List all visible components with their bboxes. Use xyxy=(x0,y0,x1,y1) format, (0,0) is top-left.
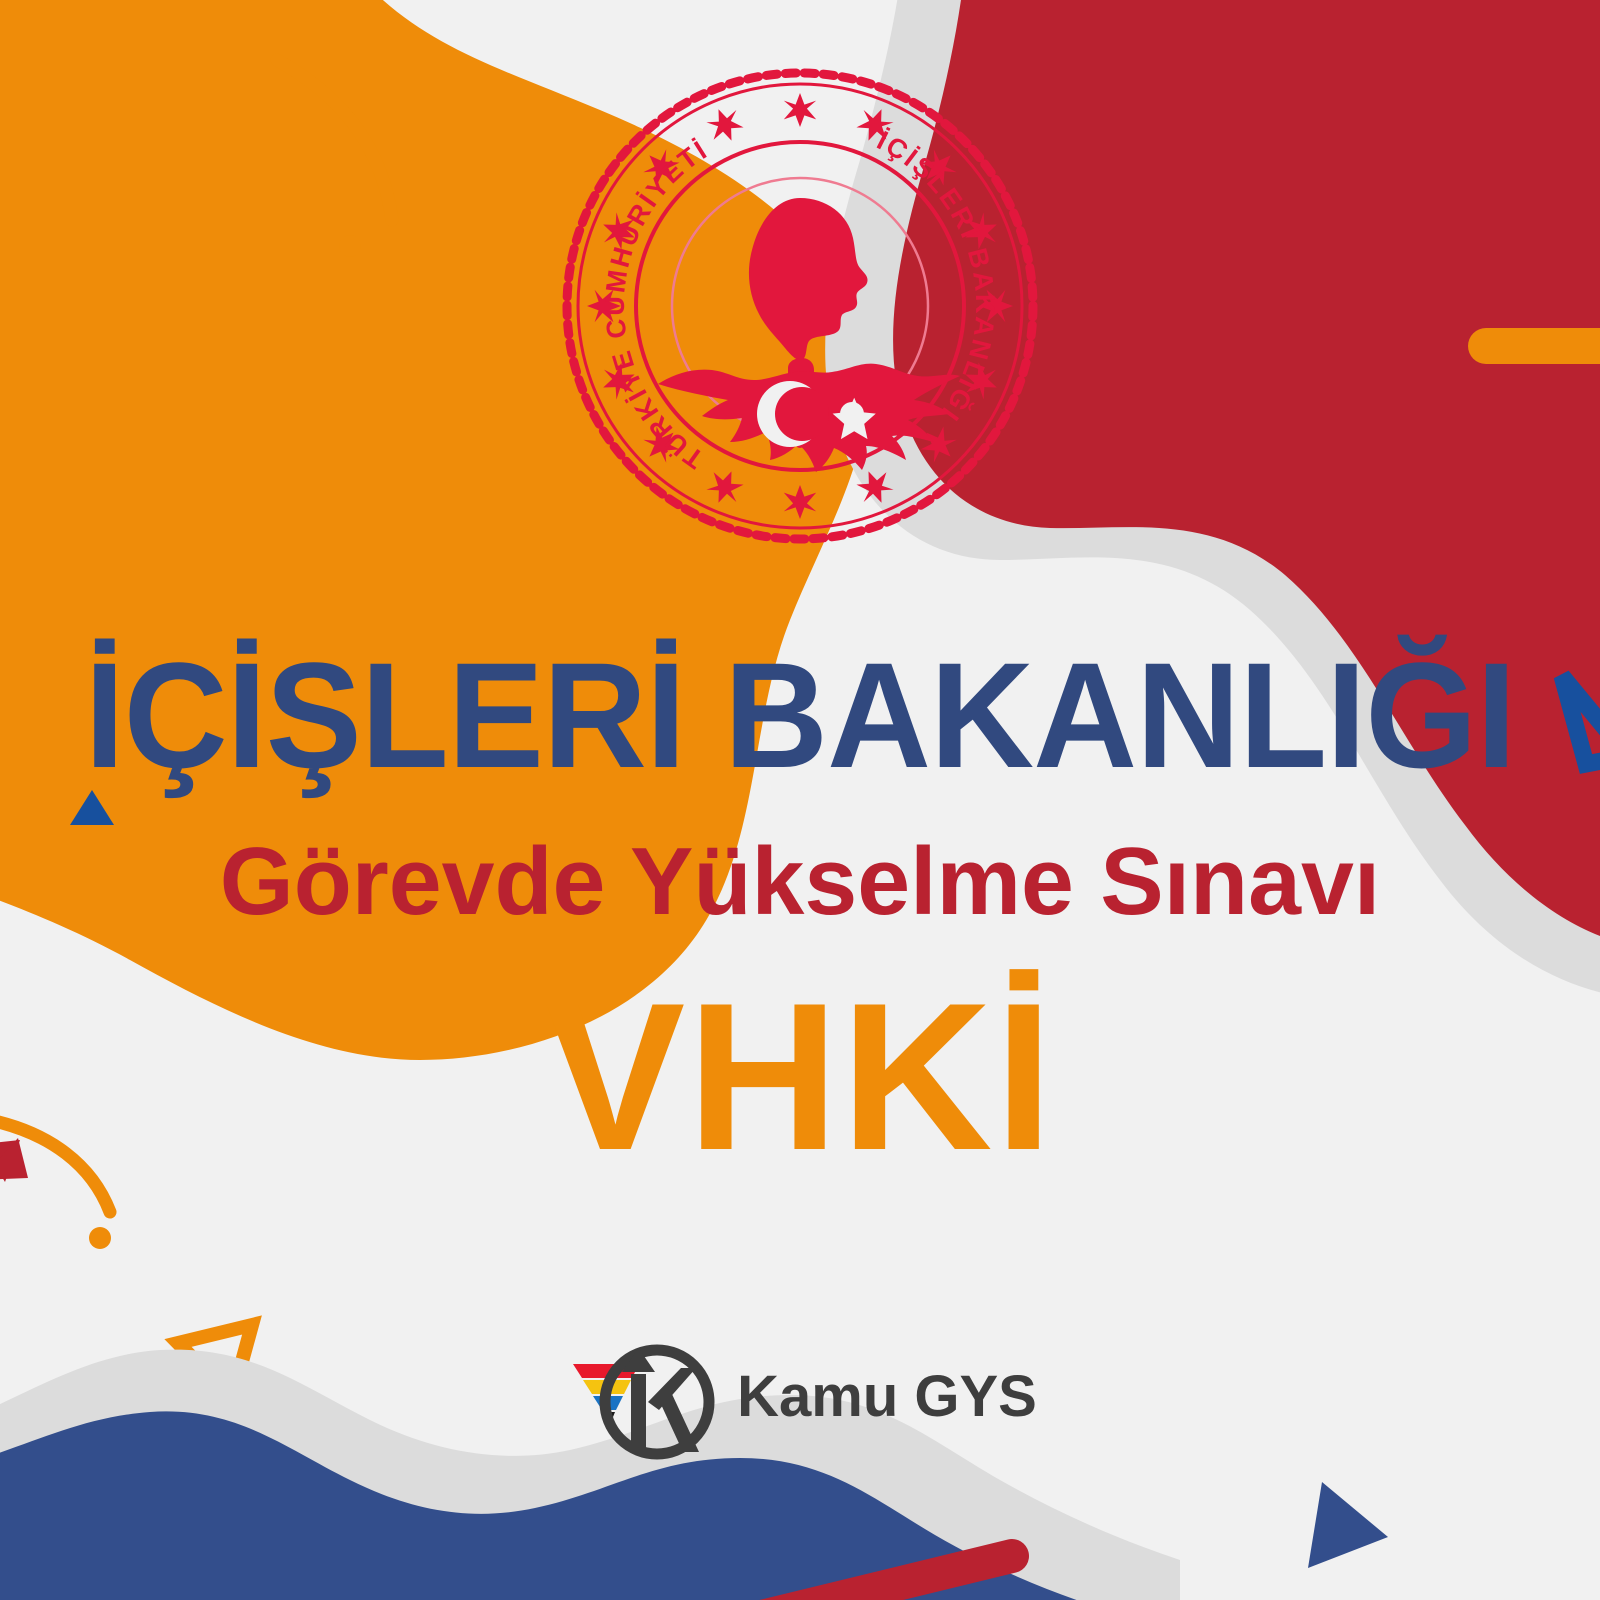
poster-canvas: TÜRKİYE CUMHURİYETİ İÇİŞLERİ BAKANLIĞI xyxy=(0,0,1600,1600)
orange-dot-lower xyxy=(89,1227,111,1249)
circled-k-with-up-arrow-icon xyxy=(563,1322,723,1472)
ataturk-silhouette-icon xyxy=(749,198,868,378)
blue-triangle-bottom-right xyxy=(1308,1482,1388,1568)
orange-dot-upper xyxy=(339,235,361,257)
red-diagonal-bar-bottom xyxy=(700,1556,1012,1600)
brand-label: Kamu GYS xyxy=(737,1368,1037,1426)
orange-bar-right xyxy=(1468,328,1600,364)
emblem-ring-text-left: TÜRKİYE CUMHURİYETİ xyxy=(600,134,714,474)
brand-logo[interactable]: Kamu GYS xyxy=(0,1322,1600,1472)
red-chevron-top xyxy=(974,0,1012,36)
heading-block: İÇİŞLERİ BAKANLIĞI Görevde Yükselme Sına… xyxy=(0,640,1600,1182)
emblem-svg: TÜRKİYE CUMHURİYETİ İÇİŞLERİ BAKANLIĞI xyxy=(556,62,1044,550)
page-subtitle: Görevde Yükselme Sınavı xyxy=(8,834,1592,930)
orange-arc-upper xyxy=(277,60,392,220)
ministry-emblem: TÜRKİYE CUMHURİYETİ İÇİŞLERİ BAKANLIĞI xyxy=(556,62,1044,550)
exam-code: VHKİ xyxy=(0,972,1600,1182)
page-title: İÇİŞLERİ BAKANLIĞI xyxy=(32,640,1568,790)
